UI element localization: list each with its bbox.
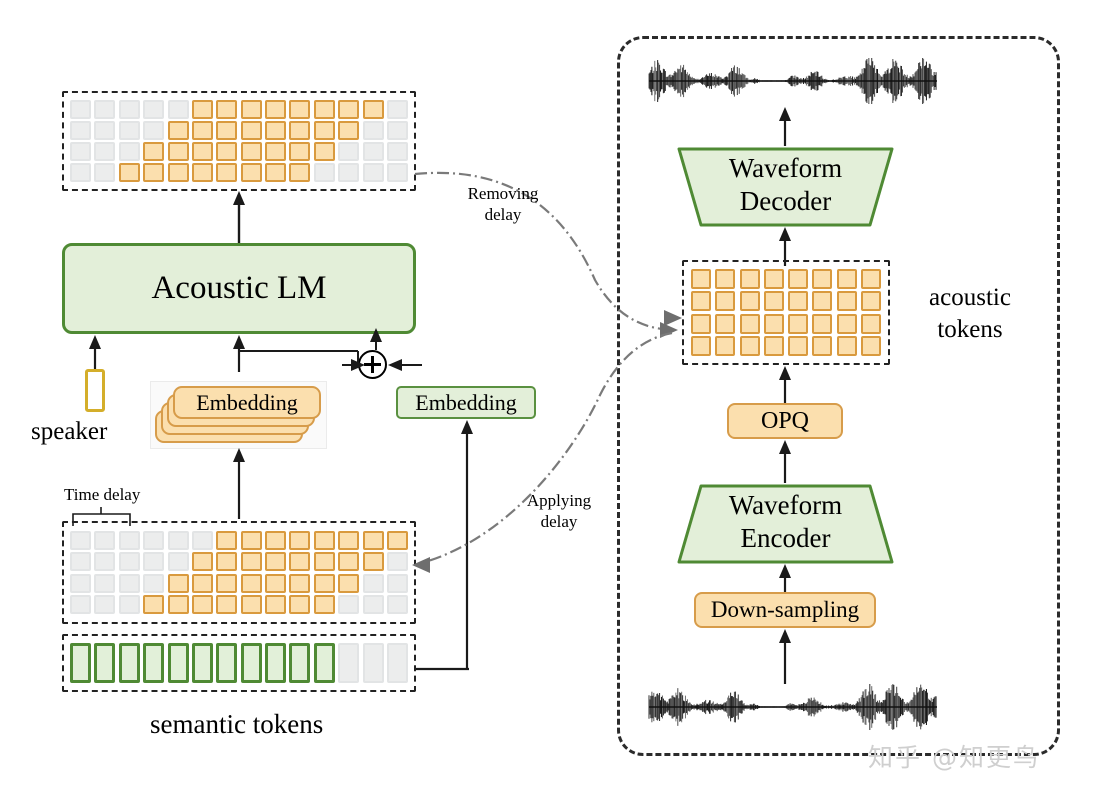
token-cell-empty bbox=[119, 121, 140, 140]
token-cell-active bbox=[837, 336, 857, 356]
embedding-acoustic-label: Embedding bbox=[196, 390, 297, 416]
token-cell-active bbox=[289, 121, 310, 140]
token-cell-active bbox=[691, 269, 711, 289]
token-cell-active bbox=[788, 291, 808, 311]
removing-delay-line1: Removing bbox=[457, 183, 549, 204]
token-cell-active bbox=[216, 531, 237, 550]
token-cell-empty bbox=[119, 552, 140, 571]
token-cell-active bbox=[338, 552, 359, 571]
token-row bbox=[70, 574, 408, 593]
token-cell-empty bbox=[363, 163, 384, 182]
token-cell-active bbox=[241, 142, 262, 161]
token-cell-empty bbox=[168, 100, 189, 119]
token-cell-active bbox=[837, 314, 857, 334]
token-cell-empty bbox=[70, 574, 91, 593]
token-cell-active bbox=[265, 574, 286, 593]
token-cell-empty bbox=[94, 121, 115, 140]
semantic-cell-active bbox=[289, 643, 310, 683]
applying-delay-label: Applying delay bbox=[513, 490, 605, 532]
token-cell-active bbox=[168, 595, 189, 614]
output-delayed-token-grid bbox=[62, 91, 416, 191]
token-cell-empty bbox=[119, 574, 140, 593]
token-cell-empty bbox=[119, 100, 140, 119]
token-cell-empty bbox=[363, 121, 384, 140]
token-cell-empty bbox=[94, 552, 115, 571]
token-cell-empty bbox=[70, 595, 91, 614]
removing-delay-label: Removing delay bbox=[457, 183, 549, 225]
token-cell-empty bbox=[70, 531, 91, 550]
token-cell-active bbox=[289, 595, 310, 614]
token-cell-active bbox=[216, 163, 237, 182]
token-cell-active bbox=[338, 121, 359, 140]
token-cell-active bbox=[192, 595, 213, 614]
token-cell-active bbox=[314, 142, 335, 161]
removing-delay-flow bbox=[410, 140, 690, 340]
token-cell-active bbox=[387, 531, 408, 550]
semantic-cell-active bbox=[94, 643, 115, 683]
token-cell-empty bbox=[70, 142, 91, 161]
token-cell-active bbox=[691, 291, 711, 311]
token-cell-active bbox=[861, 291, 881, 311]
token-cell-empty bbox=[387, 100, 408, 119]
token-cell-active bbox=[241, 531, 262, 550]
token-cell-active bbox=[265, 121, 286, 140]
down-sampling-label: Down-sampling bbox=[711, 597, 859, 623]
semantic-cell-active bbox=[143, 643, 164, 683]
waveform-encoder-label: Waveform Encoder bbox=[676, 489, 895, 555]
semantic-tokens-label: semantic tokens bbox=[150, 709, 323, 740]
token-cell-active bbox=[289, 142, 310, 161]
semantic-cell-empty bbox=[338, 643, 359, 683]
token-cell-empty bbox=[70, 552, 91, 571]
token-cell-active bbox=[740, 314, 760, 334]
semantic-cell-empty bbox=[363, 643, 384, 683]
semantic-token-row bbox=[70, 643, 408, 683]
token-cell-active bbox=[241, 574, 262, 593]
token-cell-active bbox=[289, 552, 310, 571]
token-row bbox=[70, 552, 408, 571]
speaker-token[interactable] bbox=[85, 369, 105, 412]
token-cell-empty bbox=[387, 574, 408, 593]
token-cell-active bbox=[216, 595, 237, 614]
token-cell-empty bbox=[94, 595, 115, 614]
arrow-waveform-to-downsampling bbox=[769, 628, 801, 684]
token-cell-active bbox=[861, 336, 881, 356]
removing-delay-line2: delay bbox=[457, 204, 549, 225]
acoustic-token-grid bbox=[682, 260, 890, 365]
token-cell-active bbox=[192, 142, 213, 161]
token-cell-active bbox=[143, 163, 164, 182]
token-cell-empty bbox=[363, 595, 384, 614]
token-cell-empty bbox=[387, 595, 408, 614]
token-row bbox=[691, 314, 881, 334]
token-cell-empty bbox=[168, 531, 189, 550]
token-cell-empty bbox=[94, 574, 115, 593]
acoustic-tokens-line1: acoustic tokens bbox=[909, 282, 1031, 346]
semantic-cell-active bbox=[314, 643, 335, 683]
token-cell-empty bbox=[143, 531, 164, 550]
token-cell-active bbox=[143, 142, 164, 161]
semantic-cell-empty bbox=[387, 643, 408, 683]
token-cell-active bbox=[764, 269, 784, 289]
token-cell-active bbox=[192, 574, 213, 593]
token-cell-active bbox=[168, 121, 189, 140]
semantic-cell-active bbox=[241, 643, 262, 683]
token-cell-active bbox=[788, 269, 808, 289]
token-cell-active bbox=[289, 100, 310, 119]
opq-block[interactable]: OPQ bbox=[727, 403, 843, 439]
waveform-decoder-label: Waveform Decoder bbox=[676, 152, 895, 218]
semantic-cell-active bbox=[70, 643, 91, 683]
token-cell-empty bbox=[143, 121, 164, 140]
token-cell-active bbox=[715, 314, 735, 334]
embedding-acoustic-block[interactable]: Embedding bbox=[173, 386, 321, 419]
token-cell-empty bbox=[387, 142, 408, 161]
token-cell-active bbox=[241, 121, 262, 140]
token-cell-empty bbox=[70, 100, 91, 119]
token-cell-active bbox=[265, 142, 286, 161]
arrow-encoder-to-opq bbox=[769, 439, 801, 483]
arrow-opq-to-tokens bbox=[769, 365, 801, 407]
token-cell-active bbox=[715, 269, 735, 289]
token-cell-empty bbox=[143, 574, 164, 593]
token-row bbox=[691, 269, 881, 289]
token-cell-empty bbox=[94, 163, 115, 182]
applying-delay-flow bbox=[410, 325, 690, 575]
token-cell-empty bbox=[338, 142, 359, 161]
arrow-speaker-to-lm bbox=[78, 334, 112, 370]
token-cell-empty bbox=[363, 574, 384, 593]
token-cell-active bbox=[314, 552, 335, 571]
token-cell-active bbox=[740, 291, 760, 311]
token-cell-active bbox=[812, 291, 832, 311]
token-cell-empty bbox=[119, 595, 140, 614]
arrow-decoder-to-waveform bbox=[769, 106, 801, 146]
token-cell-active bbox=[314, 574, 335, 593]
token-cell-active bbox=[314, 531, 335, 550]
opq-label: OPQ bbox=[761, 408, 809, 435]
token-cell-empty bbox=[192, 531, 213, 550]
token-cell-active bbox=[241, 552, 262, 571]
input-waveform bbox=[645, 683, 941, 731]
token-cell-active bbox=[289, 574, 310, 593]
token-row bbox=[70, 595, 408, 614]
input-delayed-token-grid bbox=[62, 521, 416, 624]
down-sampling-block[interactable]: Down-sampling bbox=[694, 592, 876, 628]
token-cell-active bbox=[363, 552, 384, 571]
token-cell-active bbox=[314, 121, 335, 140]
token-row bbox=[70, 142, 408, 161]
token-cell-active bbox=[812, 336, 832, 356]
token-cell-active bbox=[143, 595, 164, 614]
token-cell-active bbox=[289, 163, 310, 182]
token-cell-active bbox=[265, 531, 286, 550]
applying-delay-line2: delay bbox=[513, 511, 605, 532]
token-cell-active bbox=[812, 269, 832, 289]
token-cell-active bbox=[192, 100, 213, 119]
token-cell-empty bbox=[119, 142, 140, 161]
token-cell-active bbox=[740, 269, 760, 289]
token-cell-active bbox=[289, 531, 310, 550]
token-cell-active bbox=[740, 336, 760, 356]
token-cell-active bbox=[764, 291, 784, 311]
token-cell-active bbox=[265, 595, 286, 614]
semantic-cell-active bbox=[119, 643, 140, 683]
semantic-token-grid bbox=[62, 634, 416, 692]
token-cell-active bbox=[363, 531, 384, 550]
token-cell-active bbox=[338, 100, 359, 119]
token-cell-empty bbox=[338, 595, 359, 614]
token-cell-empty bbox=[314, 163, 335, 182]
token-cell-active bbox=[216, 574, 237, 593]
token-cell-active bbox=[168, 574, 189, 593]
token-cell-empty bbox=[338, 163, 359, 182]
token-cell-active bbox=[168, 163, 189, 182]
token-cell-empty bbox=[70, 121, 91, 140]
token-cell-active bbox=[861, 314, 881, 334]
token-row bbox=[70, 100, 408, 119]
token-row bbox=[70, 121, 408, 140]
token-cell-active bbox=[363, 100, 384, 119]
token-cell-empty bbox=[143, 100, 164, 119]
arrow-lm-to-output bbox=[222, 190, 256, 244]
token-cell-active bbox=[338, 531, 359, 550]
semantic-cell-active bbox=[216, 643, 237, 683]
token-cell-empty bbox=[387, 121, 408, 140]
token-cell-active bbox=[168, 142, 189, 161]
token-cell-active bbox=[861, 269, 881, 289]
speaker-label: speaker bbox=[31, 418, 107, 446]
arrow-input-grid-to-embedding bbox=[222, 447, 256, 519]
token-cell-active bbox=[265, 163, 286, 182]
token-cell-empty bbox=[94, 100, 115, 119]
semantic-tap-line bbox=[415, 660, 475, 674]
semantic-cell-active bbox=[192, 643, 213, 683]
token-cell-empty bbox=[387, 163, 408, 182]
token-cell-active bbox=[691, 314, 711, 334]
token-cell-active bbox=[691, 336, 711, 356]
semantic-cell-active bbox=[265, 643, 286, 683]
token-cell-empty bbox=[119, 531, 140, 550]
token-cell-empty bbox=[70, 163, 91, 182]
token-row bbox=[691, 336, 881, 356]
token-row bbox=[70, 531, 408, 550]
token-cell-empty bbox=[94, 531, 115, 550]
token-cell-active bbox=[241, 100, 262, 119]
token-cell-active bbox=[837, 291, 857, 311]
token-cell-active bbox=[764, 314, 784, 334]
acoustic-lm-block[interactable]: Acoustic LM bbox=[62, 243, 416, 334]
token-cell-active bbox=[837, 269, 857, 289]
waveform-decoder-line2: Decoder bbox=[676, 185, 895, 218]
token-cell-active bbox=[216, 100, 237, 119]
token-cell-active bbox=[265, 100, 286, 119]
acoustic-tokens-label: acoustic tokens bbox=[909, 282, 1031, 346]
token-row bbox=[691, 291, 881, 311]
token-cell-empty bbox=[143, 552, 164, 571]
time-delay-label: Time delay bbox=[64, 485, 140, 505]
acoustic-lm-label: Acoustic LM bbox=[151, 270, 326, 307]
token-cell-active bbox=[314, 595, 335, 614]
waveform-encoder-line1: Waveform bbox=[676, 489, 895, 522]
applying-delay-line1: Applying bbox=[513, 490, 605, 511]
token-cell-active bbox=[192, 552, 213, 571]
token-cell-active bbox=[216, 552, 237, 571]
token-cell-active bbox=[241, 595, 262, 614]
token-cell-empty bbox=[387, 552, 408, 571]
token-cell-active bbox=[241, 163, 262, 182]
token-cell-empty bbox=[363, 142, 384, 161]
token-cell-empty bbox=[168, 552, 189, 571]
waveform-encoder-line2: Encoder bbox=[676, 522, 895, 555]
token-row bbox=[70, 163, 408, 182]
token-cell-active bbox=[788, 314, 808, 334]
token-cell-active bbox=[119, 163, 140, 182]
token-cell-active bbox=[338, 574, 359, 593]
diagram-canvas: Acoustic LM speaker Embedding bbox=[0, 0, 1101, 793]
token-cell-active bbox=[715, 291, 735, 311]
token-cell-active bbox=[764, 336, 784, 356]
curve-arrowhead-into-acoustic bbox=[660, 306, 686, 330]
token-cell-active bbox=[812, 314, 832, 334]
token-cell-active bbox=[216, 121, 237, 140]
token-cell-active bbox=[265, 552, 286, 571]
token-cell-active bbox=[715, 336, 735, 356]
token-cell-active bbox=[192, 121, 213, 140]
token-cell-active bbox=[314, 100, 335, 119]
token-cell-empty bbox=[94, 142, 115, 161]
watermark: 知乎 @知更鸟 bbox=[868, 738, 1040, 774]
token-cell-active bbox=[192, 163, 213, 182]
waveform-decoder-line1: Waveform bbox=[676, 152, 895, 185]
token-cell-active bbox=[216, 142, 237, 161]
semantic-cell-active bbox=[168, 643, 189, 683]
token-cell-active bbox=[788, 336, 808, 356]
output-waveform bbox=[645, 57, 941, 105]
